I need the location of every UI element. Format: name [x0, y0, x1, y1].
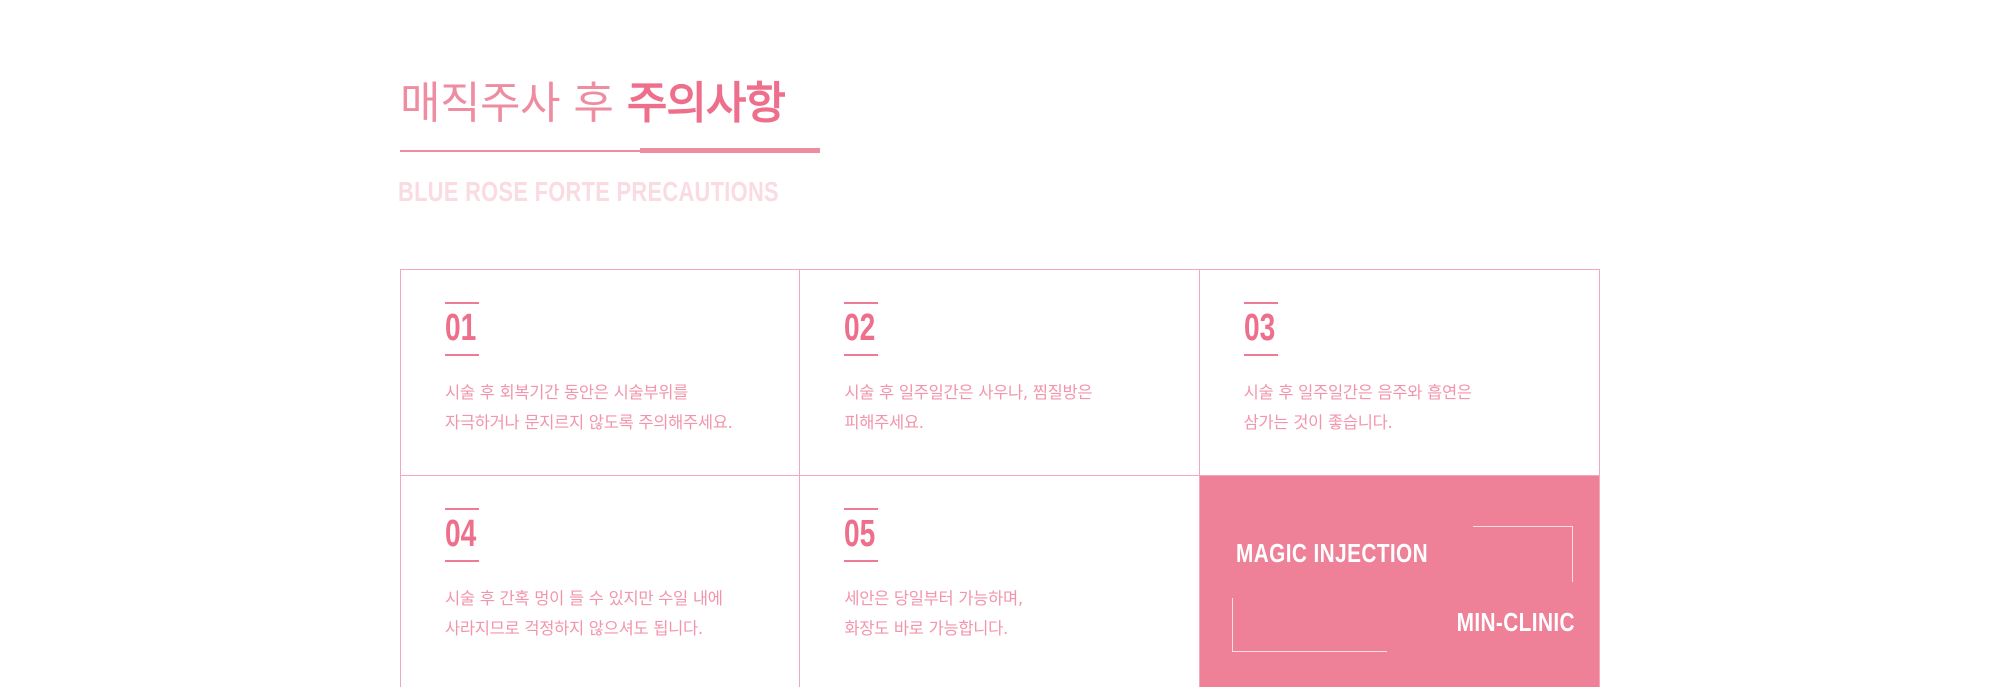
- precaution-text-02: 시술 후 일주일간은 사우나, 찜질방은 피해주세요.: [844, 378, 1198, 438]
- precaution-number-block-04: 04: [445, 508, 487, 562]
- number-rule-top-icon: [445, 508, 479, 510]
- precaution-cell-04: 04 시술 후 간혹 멍이 들 수 있지만 수일 내에 사라지므로 걱정하지 않…: [401, 476, 800, 687]
- brand-product-name: MAGIC INJECTION: [1236, 538, 1428, 569]
- precaution-number-block-05: 05: [844, 508, 886, 562]
- number-rule-top-icon: [844, 302, 878, 304]
- page-header: 매직주사 후 주의사항: [400, 82, 1200, 126]
- corner-bracket-bottom-left-icon: [1232, 598, 1387, 652]
- corner-bracket-top-right-icon: [1473, 526, 1573, 582]
- number-rule-bottom-icon: [445, 354, 479, 356]
- page-subtitle: BLUE ROSE FORTE PRECAUTIONS: [398, 176, 779, 208]
- precaution-number-04: 04: [445, 517, 476, 552]
- precaution-cell-01: 01 시술 후 회복기간 동안은 시술부위를 자극하거나 문지르지 않도록 주의…: [401, 270, 800, 476]
- number-rule-top-icon: [1244, 302, 1278, 304]
- precaution-text-01: 시술 후 회복기간 동안은 시술부위를 자극하거나 문지르지 않도록 주의해주세…: [445, 378, 799, 438]
- precaution-number-block-01: 01: [445, 302, 487, 356]
- title-underline-thin: [400, 150, 640, 152]
- page-title: 매직주사 후 주의사항: [400, 82, 785, 126]
- precaution-number-01: 01: [445, 311, 476, 346]
- page-title-light-part: 매직주사 후: [400, 78, 627, 129]
- page-title-bold-part: 주의사항: [627, 78, 785, 129]
- precaution-cell-03: 03 시술 후 일주일간은 음주와 흡연은 삼가는 것이 좋습니다.: [1200, 270, 1599, 476]
- precaution-number-block-02: 02: [844, 302, 886, 356]
- number-rule-bottom-icon: [844, 560, 878, 562]
- precaution-number-05: 05: [844, 517, 875, 552]
- precaution-cell-02: 02 시술 후 일주일간은 사우나, 찜질방은 피해주세요.: [800, 270, 1199, 476]
- precaution-text-03: 시술 후 일주일간은 음주와 흡연은 삼가는 것이 좋습니다.: [1244, 378, 1599, 438]
- number-rule-bottom-icon: [445, 560, 479, 562]
- number-rule-top-icon: [844, 508, 878, 510]
- precaution-text-05: 세안은 당일부터 가능하며, 화장도 바로 가능합니다.: [844, 584, 1198, 644]
- number-rule-bottom-icon: [844, 354, 878, 356]
- precaution-number-block-03: 03: [1244, 302, 1286, 356]
- precautions-page: 매직주사 후 주의사항 BLUE ROSE FORTE PRECAUTIONS …: [0, 0, 2000, 687]
- precautions-grid: 01 시술 후 회복기간 동안은 시술부위를 자극하거나 문지르지 않도록 주의…: [400, 269, 1600, 687]
- precaution-number-02: 02: [844, 311, 875, 346]
- precaution-text-04: 시술 후 간혹 멍이 들 수 있지만 수일 내에 사라지므로 걱정하지 않으셔도…: [445, 584, 799, 644]
- number-rule-bottom-icon: [1244, 354, 1278, 356]
- title-underline: [400, 148, 820, 154]
- precaution-number-03: 03: [1244, 311, 1275, 346]
- number-rule-top-icon: [445, 302, 479, 304]
- brand-cell: MAGIC INJECTION MIN-CLINIC: [1200, 476, 1599, 687]
- precaution-cell-05: 05 세안은 당일부터 가능하며, 화장도 바로 가능합니다.: [800, 476, 1199, 687]
- title-underline-thick: [640, 148, 820, 153]
- brand-clinic-name: MIN-CLINIC: [1457, 607, 1575, 638]
